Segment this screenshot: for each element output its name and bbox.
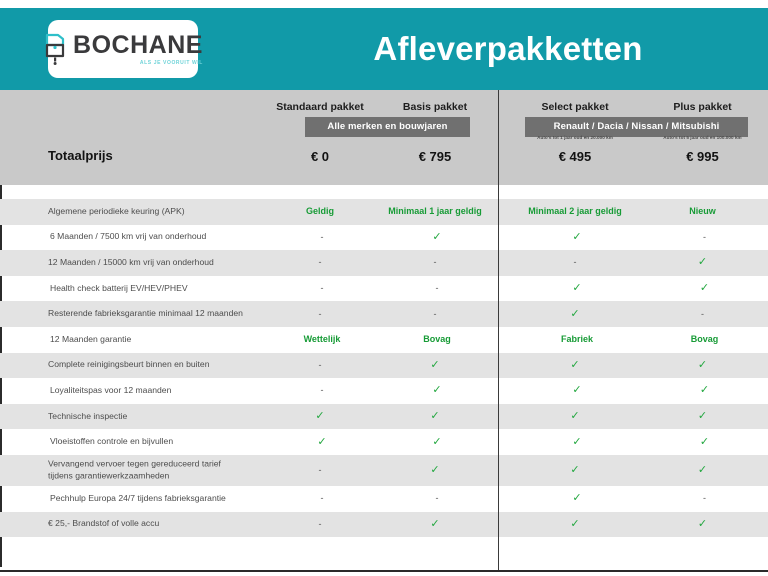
table-cell: ✓ bbox=[642, 429, 767, 455]
table-row: Pechhulp Europa 24/7 tijdens fabrieksgar… bbox=[0, 486, 768, 512]
dash-icon: - bbox=[321, 284, 324, 293]
table-cell: ✓ bbox=[512, 429, 642, 455]
row-label: Vervangend vervoer tegen gereduceerd tar… bbox=[48, 459, 221, 482]
cell-text: Wettelijk bbox=[304, 335, 341, 344]
table-cell: ✓ bbox=[370, 353, 500, 379]
row-label: 6 Maanden / 7500 km vrij van onderhoud bbox=[50, 232, 206, 244]
row-label: Technische inspectie bbox=[48, 411, 127, 423]
check-icon: ✓ bbox=[572, 283, 581, 294]
table-cell: ✓ bbox=[372, 225, 502, 251]
group-badge-right: Renault / Dacia / Nissan / Mitsubishi bbox=[525, 117, 748, 137]
check-icon: ✓ bbox=[698, 411, 707, 422]
table-cell: - bbox=[640, 301, 765, 327]
check-icon: ✓ bbox=[570, 519, 579, 530]
logo-tagline: ALS JE VOORUIT WIL bbox=[140, 61, 203, 66]
table-row: Loyaliteitspas voor 12 maanden-✓✓✓ bbox=[0, 378, 768, 404]
row-label: Loyaliteitspas voor 12 maanden bbox=[50, 385, 171, 397]
table-cell: - bbox=[257, 378, 387, 404]
table-cell: - bbox=[372, 486, 502, 512]
table-cell: ✓ bbox=[512, 486, 642, 512]
check-icon: ✓ bbox=[432, 232, 441, 243]
table-cell: ✓ bbox=[255, 404, 385, 430]
table-cell: - bbox=[255, 250, 385, 276]
table-cell: - bbox=[255, 301, 385, 327]
table-cell: ✓ bbox=[642, 378, 767, 404]
packages-table: Totaalprijs Standaard pakket Basis pakke… bbox=[0, 90, 768, 572]
table-cell: ✓ bbox=[640, 353, 765, 379]
table-row: 12 Maanden / 15000 km vrij van onderhoud… bbox=[0, 250, 768, 276]
dash-icon: - bbox=[701, 310, 704, 319]
check-icon: ✓ bbox=[700, 385, 709, 396]
dash-icon: - bbox=[703, 233, 706, 242]
table-cell: ✓ bbox=[372, 429, 502, 455]
header-band: BOCHANE ALS JE VOORUIT WIL Afleverpakket… bbox=[0, 8, 768, 90]
brand-logo: BOCHANE ALS JE VOORUIT WIL bbox=[48, 20, 198, 78]
table-row: Resterende fabrieksgarantie minimaal 12 … bbox=[0, 301, 768, 327]
table-cell: ✓ bbox=[370, 512, 500, 538]
column-header-basis: Basis pakket bbox=[370, 101, 500, 113]
cell-text: Nieuw bbox=[689, 207, 716, 216]
row-label: Pechhulp Europa 24/7 tijdens fabrieksgar… bbox=[50, 493, 226, 505]
row-label: Vloeistoffen controle en bijvullen bbox=[50, 436, 173, 448]
logo-wordmark: BOCHANE ALS JE VOORUIT WIL bbox=[73, 33, 203, 66]
table-cell: - bbox=[510, 250, 640, 276]
dash-icon: - bbox=[703, 494, 706, 503]
table-row: 6 Maanden / 7500 km vrij van onderhoud-✓… bbox=[0, 225, 768, 251]
dash-icon: - bbox=[321, 386, 324, 395]
check-icon: ✓ bbox=[570, 411, 579, 422]
table-cell: - bbox=[255, 353, 385, 379]
table-cell: Minimaal 1 jaar geldig bbox=[370, 199, 500, 225]
table-row: Algemene periodieke keuring (APK)GeldigM… bbox=[0, 199, 768, 225]
check-icon: ✓ bbox=[432, 385, 441, 396]
table-cell: ✓ bbox=[642, 276, 767, 302]
dash-icon: - bbox=[436, 284, 439, 293]
dash-icon: - bbox=[319, 520, 322, 529]
table-cell: - bbox=[642, 486, 767, 512]
check-icon: ✓ bbox=[572, 232, 581, 243]
row-label: 12 Maanden / 15000 km vrij van onderhoud bbox=[48, 257, 214, 269]
check-icon: ✓ bbox=[315, 411, 324, 422]
check-icon: ✓ bbox=[698, 519, 707, 530]
cell-text: Fabriek bbox=[561, 335, 593, 344]
dash-icon: - bbox=[319, 310, 322, 319]
table-cell: - bbox=[257, 276, 387, 302]
cell-text: Bovag bbox=[691, 335, 719, 344]
column-header-select: Select pakket bbox=[510, 101, 640, 113]
table-cell: Nieuw bbox=[640, 199, 765, 225]
table-cell: ✓ bbox=[510, 301, 640, 327]
dash-icon: - bbox=[319, 258, 322, 267]
dash-icon: - bbox=[436, 494, 439, 503]
row-label: Algemene periodieke keuring (APK) bbox=[48, 206, 185, 218]
table-row: 12 Maanden garantieWettelijkBovagFabriek… bbox=[0, 327, 768, 353]
table-row: Technische inspectie✓✓✓✓ bbox=[0, 404, 768, 430]
check-icon: ✓ bbox=[698, 360, 707, 371]
table-cell: Bovag bbox=[642, 327, 767, 353]
check-icon: ✓ bbox=[432, 437, 441, 448]
price-standaard: € 0 bbox=[255, 149, 385, 164]
table-cell: ✓ bbox=[640, 512, 765, 538]
table-footer-row bbox=[0, 537, 768, 567]
row-label: € 25,- Brandstof of volle accu bbox=[48, 519, 159, 531]
table-cell: ✓ bbox=[372, 378, 502, 404]
table-cell: - bbox=[370, 301, 500, 327]
table-cell: - bbox=[257, 486, 387, 512]
group-divider bbox=[498, 90, 499, 570]
price-plus: € 995 bbox=[640, 149, 765, 164]
table-row: Vervangend vervoer tegen gereduceerd tar… bbox=[0, 455, 768, 486]
table-cell: Wettelijk bbox=[257, 327, 387, 353]
check-icon: ✓ bbox=[570, 465, 579, 476]
table-cell: ✓ bbox=[510, 404, 640, 430]
table-cell: Minimaal 2 jaar geldig bbox=[510, 199, 640, 225]
check-icon: ✓ bbox=[572, 437, 581, 448]
table-row: Complete reinigingsbeurt binnen en buite… bbox=[0, 353, 768, 379]
table-row: Health check batterij EV/HEV/PHEV--✓✓ bbox=[0, 276, 768, 302]
check-icon: ✓ bbox=[572, 385, 581, 396]
dash-icon: - bbox=[574, 258, 577, 267]
table-cell: Geldig bbox=[255, 199, 385, 225]
check-icon: ✓ bbox=[570, 309, 579, 320]
table-cell: ✓ bbox=[512, 378, 642, 404]
column-sub-plus: Auto's tot 5 jaar oud en 100.000 km bbox=[640, 135, 765, 140]
dash-icon: - bbox=[321, 233, 324, 242]
table-cell: - bbox=[372, 276, 502, 302]
row-label: Complete reinigingsbeurt binnen en buite… bbox=[48, 360, 209, 372]
table-cell: ✓ bbox=[512, 276, 642, 302]
table-cell: - bbox=[642, 225, 767, 251]
dash-icon: - bbox=[319, 466, 322, 475]
check-icon: ✓ bbox=[698, 465, 707, 476]
table-cell: ✓ bbox=[370, 404, 500, 430]
check-icon: ✓ bbox=[430, 519, 439, 530]
table-cell: ✓ bbox=[640, 404, 765, 430]
column-header-plus: Plus pakket bbox=[640, 101, 765, 113]
table-row: Vloeistoffen controle en bijvullen✓✓✓✓ bbox=[0, 429, 768, 455]
total-price-label: Totaalprijs bbox=[48, 148, 113, 163]
table-cell: ✓ bbox=[510, 353, 640, 379]
table-cell: ✓ bbox=[510, 455, 640, 486]
price-basis: € 795 bbox=[370, 149, 500, 164]
cell-text: Minimaal 2 jaar geldig bbox=[528, 207, 622, 216]
check-icon: ✓ bbox=[430, 465, 439, 476]
check-icon: ✓ bbox=[430, 411, 439, 422]
row-label: Resterende fabrieksgarantie minimaal 12 … bbox=[48, 308, 243, 320]
column-sub-select: Auto's tot 1 jaar oud en 20.000 km bbox=[510, 135, 640, 140]
table-header: Totaalprijs Standaard pakket Basis pakke… bbox=[0, 90, 768, 185]
check-icon: ✓ bbox=[700, 283, 709, 294]
table-row: € 25,- Brandstof of volle accu-✓✓✓ bbox=[0, 512, 768, 538]
table-cell: ✓ bbox=[640, 455, 765, 486]
table-cell: - bbox=[370, 250, 500, 276]
table-cell: - bbox=[255, 455, 385, 486]
table-cell: ✓ bbox=[512, 225, 642, 251]
price-select: € 495 bbox=[510, 149, 640, 164]
table-cell: Bovag bbox=[372, 327, 502, 353]
table-cell: - bbox=[255, 512, 385, 538]
table-cell: ✓ bbox=[370, 455, 500, 486]
dash-icon: - bbox=[319, 361, 322, 370]
dash-icon: - bbox=[321, 494, 324, 503]
cell-text: Geldig bbox=[306, 207, 334, 216]
check-icon: ✓ bbox=[317, 437, 326, 448]
table-cell: ✓ bbox=[510, 512, 640, 538]
column-header-standaard: Standaard pakket bbox=[255, 101, 385, 113]
row-label: 12 Maanden garantie bbox=[50, 334, 131, 346]
bochane-mark-icon bbox=[43, 32, 69, 66]
check-icon: ✓ bbox=[700, 437, 709, 448]
check-icon: ✓ bbox=[430, 360, 439, 371]
cell-text: Bovag bbox=[423, 335, 451, 344]
header-gap-row bbox=[0, 185, 768, 199]
table-cell: Fabriek bbox=[512, 327, 642, 353]
table-cell: - bbox=[257, 225, 387, 251]
dash-icon: - bbox=[434, 310, 437, 319]
dash-icon: - bbox=[434, 258, 437, 267]
group-badge-left: Alle merken en bouwjaren bbox=[305, 117, 470, 137]
row-label: Health check batterij EV/HEV/PHEV bbox=[50, 283, 188, 295]
logo-word: BOCHANE bbox=[73, 33, 203, 58]
check-icon: ✓ bbox=[698, 257, 707, 268]
check-icon: ✓ bbox=[570, 360, 579, 371]
page-title: Afleverpakketten bbox=[248, 8, 768, 90]
feature-rows: Algemene periodieke keuring (APK)GeldigM… bbox=[0, 199, 768, 537]
delivery-packages-infographic: BOCHANE ALS JE VOORUIT WIL Afleverpakket… bbox=[0, 0, 768, 576]
cell-text: Minimaal 1 jaar geldig bbox=[388, 207, 482, 216]
table-cell: ✓ bbox=[257, 429, 387, 455]
table-cell: ✓ bbox=[640, 250, 765, 276]
check-icon: ✓ bbox=[572, 493, 581, 504]
